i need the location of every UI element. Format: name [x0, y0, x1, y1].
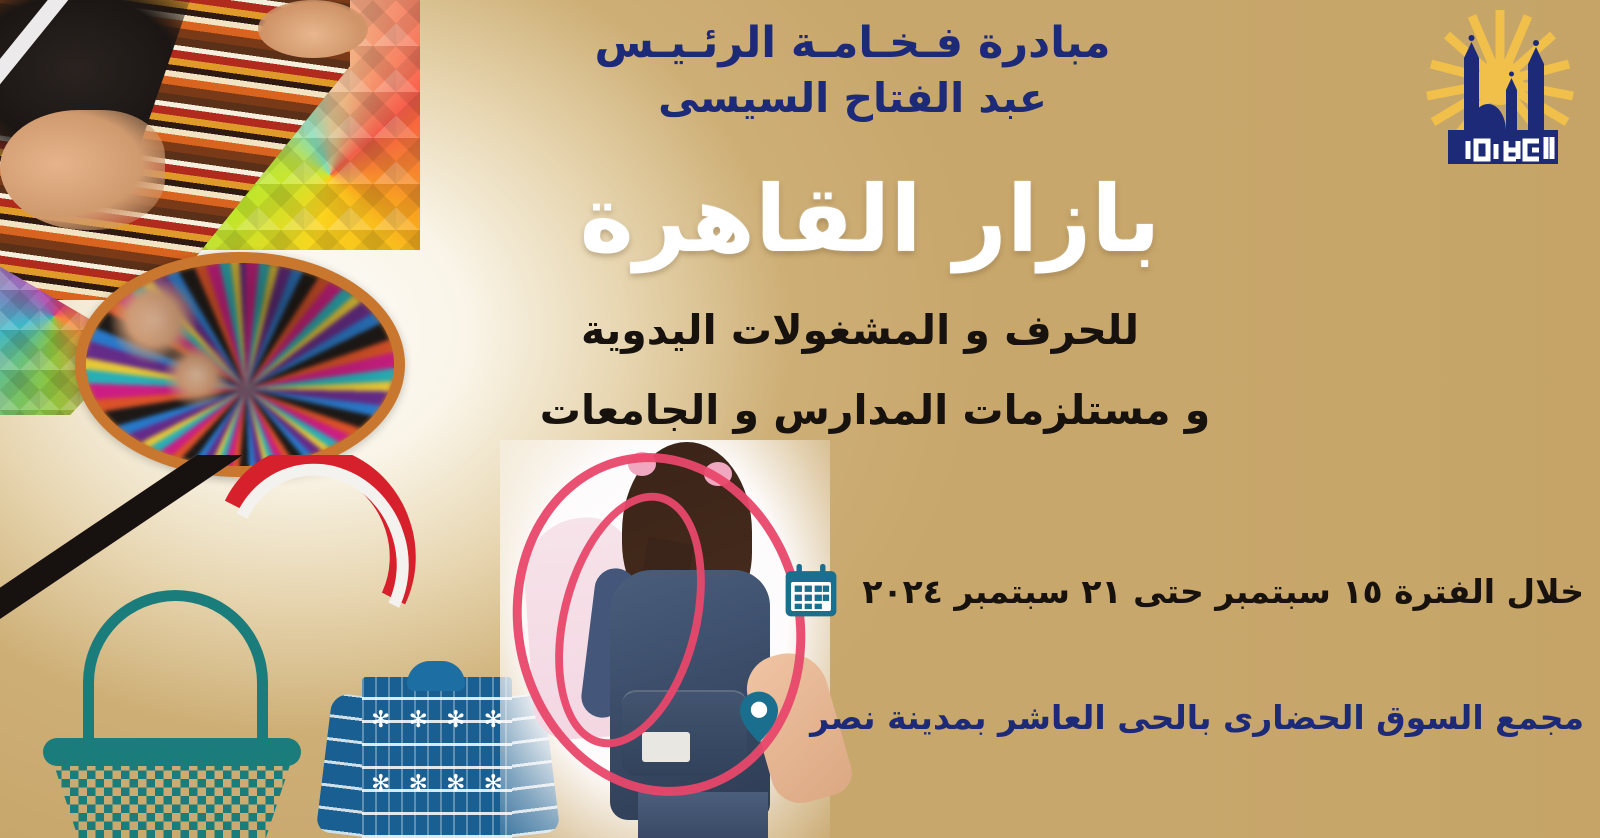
initiative-line-2: عبد الفتاح السيسى — [410, 72, 1295, 125]
event-date-row: خلال الفترة ١٥ سبتمبر حتى ٢١ سبتمبر ٢٠٢٤ — [782, 562, 1584, 620]
calendar-icon — [782, 562, 840, 620]
event-location-row: مجمع السوق الحضارى بالحى العاشر بمدينة ن… — [730, 688, 1584, 746]
woven-basket-icon — [35, 590, 310, 838]
craftsman-hand-upper — [258, 0, 368, 58]
basket-handle — [83, 590, 268, 760]
snowflake-icon: ✻ — [371, 773, 390, 796]
subtitle-line-2: و مستلزمات المدارس و الجامعات — [410, 385, 1340, 436]
page-title: بازار القاهرة — [410, 172, 1330, 268]
subtitle-line-1: للحرف و المشغولات اليدوية — [410, 305, 1310, 356]
event-date-text: خلال الفترة ١٥ سبتمبر حتى ٢١ سبتمبر ٢٠٢٤ — [862, 572, 1584, 611]
basket-body — [53, 762, 291, 838]
initiative-line-1: مبادرة فـخـامـة الرئـيـس — [594, 18, 1110, 68]
initiative-heading: مبادرة فـخـامـة الرئـيـس عبد الفتاح السي… — [410, 16, 1295, 125]
poster-banner: ✻ ✻ ✻ ✻ ✻ ✻ ✻ ✻ مبادرة فـخـامـة الرئـيـس — [0, 0, 1600, 838]
map-pin-icon — [730, 688, 788, 746]
event-location-text: مجمع السوق الحضارى بالحى العاشر بمدينة ن… — [810, 698, 1584, 737]
snowflake-icon: ✻ — [371, 709, 390, 732]
beadwork-hands-photo — [75, 252, 405, 477]
basket-rim — [43, 738, 301, 766]
cairo-governorate-logo — [1410, 4, 1586, 176]
photo-blur-overlay — [86, 263, 394, 466]
